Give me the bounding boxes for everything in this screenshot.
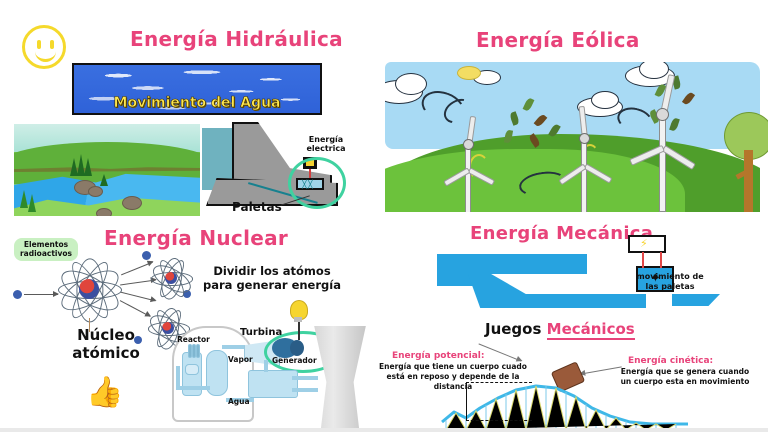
potential-energy-arrow [478,343,521,361]
control-rod [192,344,196,358]
atom-nucleus [79,279,99,299]
wind-scene [385,62,760,212]
paddle-motion-line2: las paletas [646,282,695,291]
section-title-nuclear: Energía Nuclear [104,226,288,250]
water-banner-label: Movimiento del Agua [74,95,320,111]
split-atoms-line2: para generar energía [203,278,341,292]
section-title-hidraulica: Energía Hidráulica [130,27,343,51]
turbine-tower [581,136,587,212]
paddle-motion-line1: movimiento de [636,272,703,281]
fission-arrow [120,300,150,317]
reactor-label: Reactor [177,335,210,344]
paddle-motion-label: movimiento de las paletas [628,272,712,293]
incoming-neutron-arrow [24,294,58,295]
fission-arrow [121,262,153,276]
river-rock [88,186,103,197]
paletas-label: Paletas [232,200,282,214]
condenser [248,370,298,398]
cloud-icon [395,73,427,95]
tree-trunk [744,150,753,212]
kinetic-energy-heading: Energía cinética: [628,356,713,366]
section-title-mecanica: Energía Mecánica [470,223,653,244]
pipe-cooling [292,388,318,392]
control-rod [188,344,192,358]
smiley-left-eye [37,40,41,49]
control-rod [196,344,200,358]
vapor-label: Vapor [228,355,253,364]
connecting-rod [660,252,662,268]
infographic-canvas: Energía Hidráulica Movimiento del Agua ╳… [0,0,768,432]
height-dashed-bottom [466,420,532,421]
river-rock [96,208,112,216]
mechanical-games-heading: Juegos Mecánicos [485,320,635,338]
radioactive-label-line1: Elementos [24,240,68,249]
pipe-cooling [292,376,318,380]
roller-coaster-track [440,382,690,430]
smiley-mouth [35,49,56,62]
thumbs-up-icon: 👍 [86,378,123,408]
river-grass-tuft [20,190,28,208]
height-dashed-top [466,382,532,383]
turbina-label: Turbina [240,327,282,338]
split-atoms-line1: Dividir los atómos [213,264,330,278]
reactor-core-window [185,364,199,375]
pipe-segment [176,366,180,390]
section-title-eolica: Energía Eólica [476,28,640,52]
flume-outlet [672,294,720,306]
height-measure-line [466,382,467,420]
power-wire [298,322,300,340]
water-texture-banner: Movimiento del Agua [72,63,322,115]
mecanicos-word: Mecánicos [547,320,635,340]
turbine-hub [656,108,669,121]
cloud-icon [591,91,619,109]
river-rock [122,196,142,210]
agua-label: Agua [228,397,250,406]
river-grass-tuft [100,174,108,186]
sun-icon [457,66,481,80]
generador-label: Generador [272,356,317,365]
connecting-rod [642,252,644,268]
electric-energy-label-line1: Energía [309,135,343,144]
kinetic-body-line1: Energía que se genera cuando [621,367,749,376]
river-grass-tuft [84,158,92,176]
coaster-svg [440,382,690,430]
electric-energy-label: Energía electrica [296,135,356,153]
smiley-face-icon [22,25,66,69]
potential-energy-heading: Energía potencial: [392,351,484,361]
turbine-hub [579,133,590,144]
nucleus-label-line2: atómico [72,344,140,362]
river-photo [14,124,200,216]
juegos-word: Juegos [485,320,541,338]
river-grass-tuft [28,194,36,212]
nucleus-label-line1: Núcleo [77,326,135,344]
atom-fragment [151,258,191,298]
emitted-neutron [142,251,151,260]
neutron-dot [13,290,22,299]
flume-upper-channel [437,254,587,274]
turbine-hub [463,139,474,150]
smiley-right-eye [50,40,54,49]
potential-body-line1: Energía que tiene un cuerpo cuado [379,362,527,371]
electric-energy-label-line2: electrica [307,144,346,153]
flume-lower-channel [520,294,646,308]
footer-divider [0,428,768,432]
split-atoms-text: Dividir los atómos para generar energía [202,264,342,293]
pipe-segment [264,360,268,372]
atom-main [58,258,120,320]
turbine-tower [659,112,666,212]
turbine-tower [465,142,471,212]
nucleus-label: Núcleo atómico [60,326,152,362]
pipe-segment [178,386,210,390]
lightning-bolt-icon: ⚡ [640,238,648,249]
